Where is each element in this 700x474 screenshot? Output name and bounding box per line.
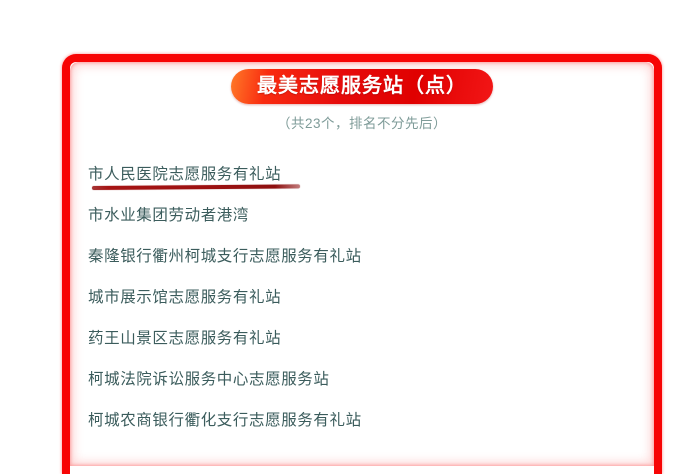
station-name: 市水业集团劳动者港湾: [88, 195, 249, 236]
station-name: 药王山景区志愿服务有礼站: [88, 318, 281, 359]
page-root: 最美志愿服务站（点） （共23个，排名不分先后） 市人民医院志愿服务有礼站 市水…: [0, 0, 700, 443]
page-title: 最美志愿服务站（点）: [231, 69, 493, 104]
list-item[interactable]: 柯城农商银行衢化支行志愿服务有礼站: [88, 400, 638, 441]
subtitle-count-note: （共23个，排名不分先后）: [70, 115, 654, 133]
station-name: 柯城农商银行衢化支行志愿服务有礼站: [88, 400, 362, 441]
station-list: 市人民医院志愿服务有礼站 市水业集团劳动者港湾 秦隆银行衢州柯城支行志愿服务有礼…: [88, 154, 638, 441]
card-content: 最美志愿服务站（点） （共23个，排名不分先后） 市人民医院志愿服务有礼站 市水…: [70, 62, 654, 443]
list-item[interactable]: 市水业集团劳动者港湾: [88, 195, 638, 236]
list-item[interactable]: 柯城法院诉讼服务中心志愿服务站: [88, 359, 638, 400]
list-item[interactable]: 秦隆银行衢州柯城支行志愿服务有礼站: [88, 236, 638, 277]
title-banner-container: 最美志愿服务站（点）: [70, 69, 654, 104]
list-item[interactable]: 市人民医院志愿服务有礼站: [88, 154, 638, 195]
list-item[interactable]: 药王山景区志愿服务有礼站: [88, 318, 638, 359]
station-name: 秦隆银行衢州柯城支行志愿服务有礼站: [88, 236, 362, 277]
list-item[interactable]: 城市展示馆志愿服务有礼站: [88, 277, 638, 318]
station-name: 城市展示馆志愿服务有礼站: [88, 277, 281, 318]
station-name: 柯城法院诉讼服务中心志愿服务站: [88, 359, 330, 400]
